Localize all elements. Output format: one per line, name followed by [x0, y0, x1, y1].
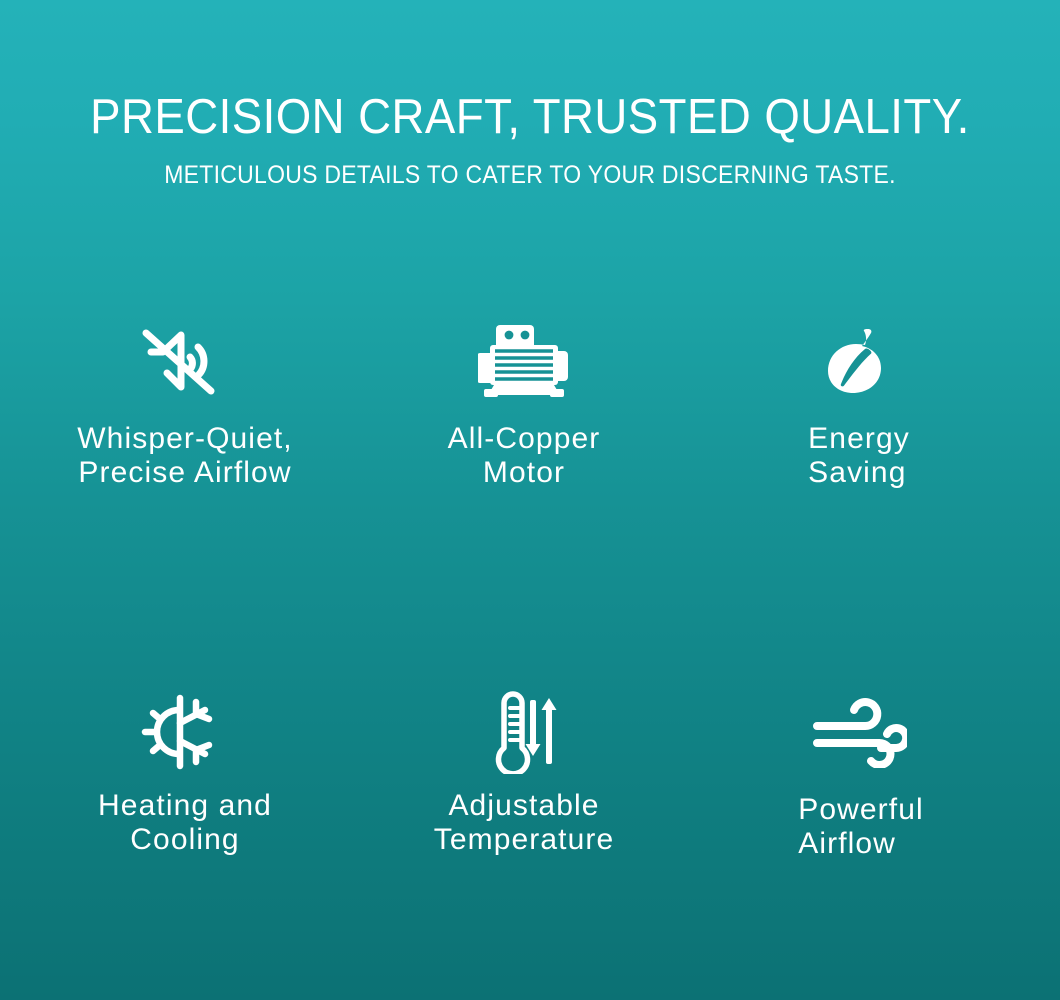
feature-label: All-Copper Motor	[448, 422, 601, 489]
promo-banner: PRECISION CRAFT, TRUSTED QUALITY. METICU…	[0, 0, 1060, 1000]
feature-row-2: Heating and Cooling	[0, 689, 1060, 860]
feature-item-all-copper-motor: All-Copper Motor	[370, 318, 678, 489]
page-subtitle: METICULOUS DETAILS TO CATER TO YOUR DISC…	[42, 161, 1017, 190]
feature-item-heating-cooling: Heating and Cooling	[0, 689, 370, 860]
feature-label: Powerful Airflow	[798, 793, 924, 860]
feature-grid: Whisper-Quiet, Precise Airflow	[0, 318, 1060, 860]
mute-speaker-icon	[137, 318, 225, 404]
feature-item-adjustable-temperature: Adjustable Temperature	[370, 689, 678, 860]
feature-label: Energy Saving	[808, 422, 910, 489]
feature-row-1: Whisper-Quiet, Precise Airflow	[0, 318, 1060, 489]
sun-snowflake-icon	[139, 689, 223, 775]
feature-label: Adjustable Temperature	[434, 789, 615, 856]
header: PRECISION CRAFT, TRUSTED QUALITY. METICU…	[0, 92, 1060, 190]
thermometer-adjust-icon	[488, 689, 560, 775]
feature-item-powerful-airflow: Powerful Airflow	[678, 689, 1060, 860]
feature-item-whisper-quiet: Whisper-Quiet, Precise Airflow	[0, 318, 370, 489]
feature-item-energy-saving: Energy Saving	[678, 318, 1060, 489]
feature-label: Heating and Cooling	[98, 789, 272, 856]
wind-icon	[811, 689, 907, 775]
electric-motor-icon	[478, 318, 570, 404]
feature-label: Whisper-Quiet, Precise Airflow	[77, 422, 292, 489]
page-title: PRECISION CRAFT, TRUSTED QUALITY.	[37, 92, 1023, 144]
leaf-icon	[821, 318, 897, 404]
